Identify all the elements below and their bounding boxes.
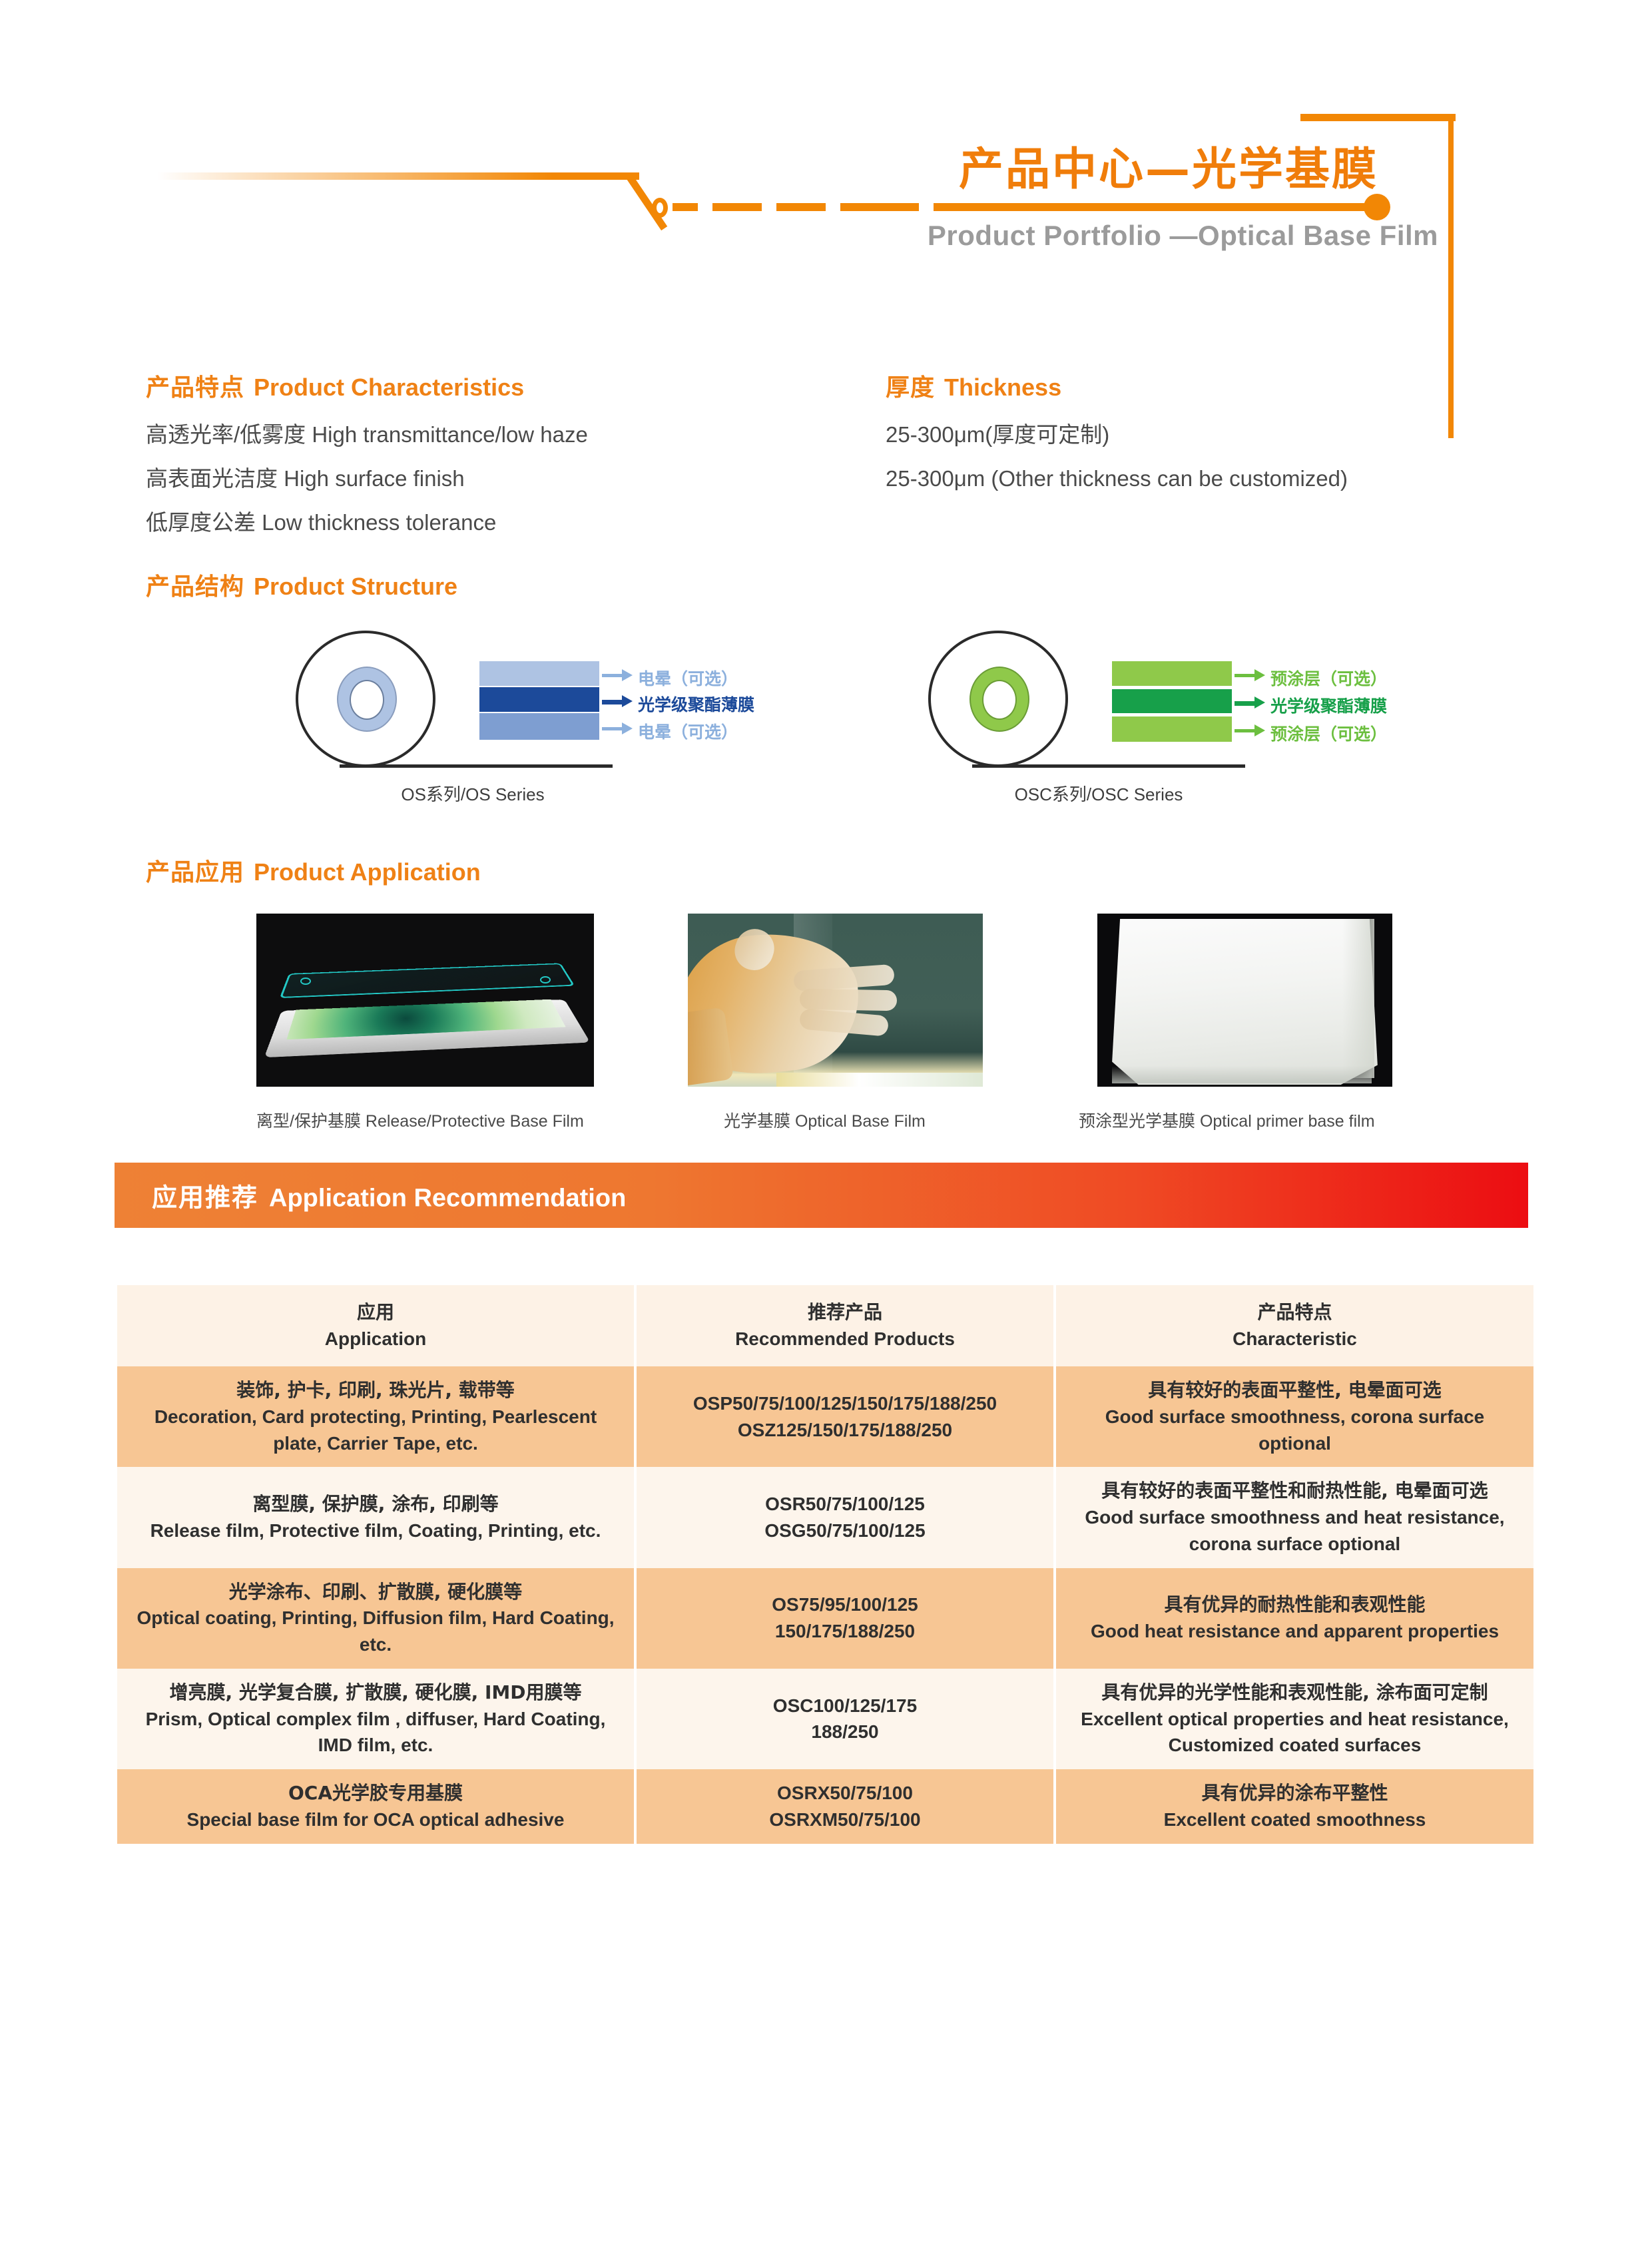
section-heading-structure-en: Product Structure (254, 573, 457, 600)
structure-diagram-osc-caption: OSC系列/OSC Series (912, 781, 1285, 806)
cell-product-code: OSC100/125/175 (649, 1693, 1041, 1719)
header-bracket-side (1448, 114, 1454, 438)
table-row: OCA光学胶专用基膜Special base film for OCA opti… (117, 1769, 1533, 1844)
section-heading-application-cn: 产品应用 (146, 859, 244, 886)
application-photo-caption-1: 离型/保护基膜 Release/Protective Base Film (256, 1108, 584, 1132)
layer-label-top: 预涂层（可选） (1270, 666, 1387, 690)
application-photo-caption-3: 预涂型光学基膜 Optical primer base film (1079, 1108, 1375, 1132)
characteristic-line-2: 高表面光洁度 High surface finish (146, 467, 465, 489)
application-photo-release-film (256, 914, 594, 1087)
table-cell-products: OS75/95/100/125150/175/188/250 (637, 1568, 1053, 1669)
application-recommendation-table: 应用 Application 推荐产品 Recommended Products… (115, 1285, 1536, 1844)
cell-characteristic-en: Good surface smoothness and heat resista… (1068, 1504, 1521, 1557)
cell-product-code: OSZ125/150/175/188/250 (649, 1417, 1041, 1444)
table-row: 装饰, 护卡, 印刷, 珠光片, 载带等Decoration, Card pro… (117, 1366, 1533, 1467)
film-sheet-white (1112, 919, 1378, 1085)
table-header-application-en: Application (129, 1326, 622, 1352)
film-fold-bottom (1112, 1066, 1372, 1083)
structure-diagram-osc: 预涂层（可选） 光学级聚酯薄膜 预涂层（可选） OSC系列/OSC Series (919, 629, 1425, 796)
application-recommendation-label: 应用推荐Application Recommendation (152, 1177, 626, 1214)
cell-application-en: Decoration, Card protecting, Printing, P… (129, 1404, 622, 1457)
brochure-page: 产品中心—光学基膜 Product Portfolio —Optical Bas… (0, 0, 1652, 2242)
section-heading-application: 产品应用Product Application (146, 853, 481, 888)
table-row: 增亮膜, 光学复合膜, 扩散膜, 硬化膜, IMD用膜等Prism, Optic… (117, 1669, 1533, 1769)
table-cell-characteristic: 具有优异的光学性能和表观性能, 涂布面可定制Excellent optical … (1056, 1669, 1533, 1769)
header-ring-icon (652, 198, 668, 218)
film-roll-hole (350, 680, 384, 720)
film-roll-baseline (340, 764, 613, 768)
application-photo-caption-2: 光学基膜 Optical Base Film (724, 1108, 926, 1132)
protective-film-sheet (279, 963, 575, 998)
cell-application-en: Optical coating, Printing, Diffusion fil… (129, 1605, 622, 1658)
application-recommendation-banner: 应用推荐Application Recommendation (115, 1163, 1528, 1228)
film-sensor-hole-icon (540, 976, 551, 983)
application-photo-optical-film (688, 914, 983, 1087)
cell-application-cn: OCA光学胶专用基膜 (129, 1780, 622, 1807)
cell-characteristic-en: Excellent coated smoothness (1068, 1807, 1521, 1833)
table-header-application-cn: 应用 (129, 1299, 622, 1326)
application-photo-primer-film (1097, 914, 1392, 1087)
page-subtitle: Product Portfolio —Optical Base Film (859, 220, 1438, 252)
layer-label-bottom: 预涂层（可选） (1270, 721, 1387, 745)
table-cell-products: OSP50/75/100/125/150/175/188/250OSZ125/1… (637, 1366, 1053, 1467)
cell-application-en: Release film, Protective film, Coating, … (129, 1518, 622, 1544)
layer-bar-middle (479, 687, 599, 712)
cell-characteristic-cn: 具有优异的耐热性能和表观性能 (1068, 1591, 1521, 1618)
section-heading-thickness-en: Thickness (944, 374, 1061, 401)
thickness-line-1: 25-300μm(厚度可定制) (886, 423, 1109, 445)
cell-characteristic-en: Excellent optical properties and heat re… (1068, 1706, 1521, 1759)
cell-product-code: OSRX50/75/100 (649, 1780, 1041, 1807)
cell-application-cn: 增亮膜, 光学复合膜, 扩散膜, 硬化膜, IMD用膜等 (129, 1679, 622, 1706)
cell-characteristic-cn: 具有优异的光学性能和表观性能, 涂布面可定制 (1068, 1679, 1521, 1706)
section-heading-thickness-cn: 厚度 (886, 374, 935, 402)
layer-bar-bottom (1112, 716, 1232, 742)
layer-label-middle: 光学级聚酯薄膜 (638, 692, 754, 716)
layer-label-top: 电晕（可选） (638, 666, 738, 690)
cell-characteristic-cn: 具有较好的表面平整性, 电晕面可选 (1068, 1377, 1521, 1404)
cell-product-code: OSRXM50/75/100 (649, 1807, 1041, 1833)
layer-bar-middle (1112, 689, 1232, 713)
table-row: 离型膜, 保护膜, 涂布, 印刷等Release film, Protectiv… (117, 1467, 1533, 1567)
thickness-line-2: 25-300μm (Other thickness can be customi… (886, 467, 1348, 489)
table-cell-characteristic: 具有较好的表面平整性和耐热性能, 电晕面可选Good surface smoot… (1056, 1467, 1533, 1567)
glove-finger (800, 989, 898, 1011)
layer-label-middle: 光学级聚酯薄膜 (1270, 693, 1387, 717)
table-cell-products: OSR50/75/100/125OSG50/75/100/125 (637, 1467, 1053, 1567)
cell-product-code: OSG50/75/100/125 (649, 1518, 1041, 1544)
section-heading-characteristics: 产品特点Product Characteristics (146, 368, 524, 403)
cell-characteristic-en: Good surface smoothness, corona surface … (1068, 1404, 1521, 1457)
cell-product-code: OSR50/75/100/125 (649, 1491, 1041, 1518)
table-cell-application: 光学涂布、印刷、扩散膜, 硬化膜等Optical coating, Printi… (117, 1568, 634, 1669)
characteristic-line-1: 高透光率/低雾度 High transmittance/low haze (146, 423, 588, 445)
table-cell-characteristic: 具有优异的涂布平整性Excellent coated smoothness (1056, 1769, 1533, 1844)
table-cell-products: OSC100/125/175188/250 (637, 1669, 1053, 1769)
application-recommendation-label-en: Application Recommendation (269, 1185, 626, 1213)
cell-application-en: Special base film for OCA optical adhesi… (129, 1807, 622, 1833)
layer-bar-top (479, 661, 599, 686)
film-fold-right (1342, 919, 1375, 1078)
characteristic-line-3: 低厚度公差 Low thickness tolerance (146, 511, 496, 533)
table-body: 装饰, 护卡, 印刷, 珠光片, 载带等Decoration, Card pro… (117, 1366, 1533, 1844)
cell-characteristic-cn: 具有优异的涂布平整性 (1068, 1780, 1521, 1807)
light-reflection (776, 1073, 983, 1087)
cell-characteristic-en: Good heat resistance and apparent proper… (1068, 1618, 1521, 1645)
table-cell-characteristic: 具有较好的表面平整性, 电晕面可选Good surface smoothness… (1056, 1366, 1533, 1467)
structure-diagram-os: 电晕（可选） 光学级聚酯薄膜 电晕（可选） OS系列/OS Series (286, 629, 792, 796)
table-header-products-en: Recommended Products (649, 1326, 1041, 1352)
layer-label-bottom: 电晕（可选） (638, 719, 738, 743)
table-header-characteristic-en: Characteristic (1068, 1326, 1521, 1352)
section-heading-characteristics-en: Product Characteristics (254, 374, 524, 401)
cell-product-code: OS75/95/100/125 (649, 1591, 1041, 1618)
table-header-application: 应用 Application (117, 1285, 634, 1366)
cell-application-cn: 离型膜, 保护膜, 涂布, 印刷等 (129, 1491, 622, 1518)
section-heading-thickness: 厚度Thickness (886, 368, 1061, 403)
table-cell-application: 离型膜, 保护膜, 涂布, 印刷等Release film, Protectiv… (117, 1467, 634, 1567)
film-roll-hole (982, 680, 1017, 720)
section-heading-application-en: Product Application (254, 858, 481, 886)
table-row: 光学涂布、印刷、扩散膜, 硬化膜等Optical coating, Printi… (117, 1568, 1533, 1669)
page-header: 产品中心—光学基膜 Product Portfolio —Optical Bas… (0, 0, 1652, 313)
layer-bar-bottom (479, 713, 599, 740)
film-roll-baseline (972, 764, 1245, 768)
cell-product-code: 188/250 (649, 1719, 1041, 1745)
table-cell-characteristic: 具有优异的耐热性能和表观性能Good heat resistance and a… (1056, 1568, 1533, 1669)
table-header-characteristic: 产品特点 Characteristic (1056, 1285, 1533, 1366)
header-dot-icon (1364, 194, 1390, 220)
header-gradient-rule (157, 172, 639, 180)
cell-product-code: OSP50/75/100/125/150/175/188/250 (649, 1390, 1041, 1417)
layer-bar-top (1112, 661, 1232, 686)
table-cell-application: 增亮膜, 光学复合膜, 扩散膜, 硬化膜, IMD用膜等Prism, Optic… (117, 1669, 634, 1769)
table-cell-application: 装饰, 护卡, 印刷, 珠光片, 载带等Decoration, Card pro… (117, 1366, 634, 1467)
application-recommendation-label-cn: 应用推荐 (152, 1183, 258, 1213)
section-heading-structure-cn: 产品结构 (146, 573, 244, 601)
section-heading-characteristics-cn: 产品特点 (146, 374, 244, 402)
cell-characteristic-cn: 具有较好的表面平整性和耐热性能, 电晕面可选 (1068, 1478, 1521, 1504)
cell-application-cn: 装饰, 护卡, 印刷, 珠光片, 载带等 (129, 1377, 622, 1404)
header-bracket-top (1300, 114, 1456, 121)
table-cell-products: OSRX50/75/100OSRXM50/75/100 (637, 1769, 1053, 1844)
cell-application-en: Prism, Optical complex film , diffuser, … (129, 1706, 622, 1759)
section-heading-structure: 产品结构Product Structure (146, 567, 457, 602)
cell-product-code: 150/175/188/250 (649, 1618, 1041, 1645)
table-header-products: 推荐产品 Recommended Products (637, 1285, 1053, 1366)
page-title: 产品中心—光学基膜 (959, 133, 1438, 198)
structure-diagram-os-caption: OS系列/OS Series (286, 781, 659, 806)
table-header-products-cn: 推荐产品 (649, 1299, 1041, 1326)
table-header-characteristic-cn: 产品特点 (1068, 1299, 1521, 1326)
cell-application-cn: 光学涂布、印刷、扩散膜, 硬化膜等 (129, 1579, 622, 1605)
table-header-row: 应用 Application 推荐产品 Recommended Products… (117, 1285, 1533, 1366)
header-dashed-rule (673, 203, 1372, 211)
table-cell-application: OCA光学胶专用基膜Special base film for OCA opti… (117, 1769, 634, 1844)
